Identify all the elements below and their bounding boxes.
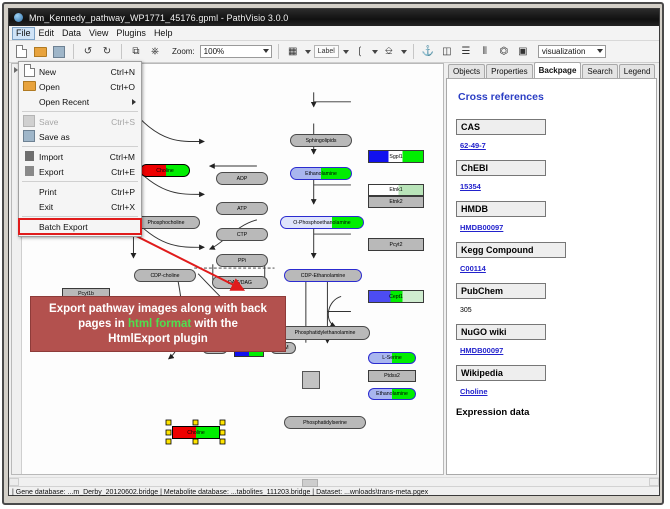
line-button[interactable]: ❲ — [352, 44, 368, 60]
status-area: | Gene database: ...m_Derby_20120602.bri… — [9, 477, 659, 495]
menu-item-accelerator: Ctrl+S — [111, 117, 141, 127]
node-label: DAG/DAG — [227, 280, 253, 286]
new-button[interactable] — [13, 44, 29, 60]
menu-item-accelerator: Ctrl+E — [111, 167, 141, 177]
toolbar-separator-1 — [73, 44, 74, 59]
copy-button[interactable]: ⧉ — [128, 44, 144, 60]
datanode-button[interactable]: ▦ — [285, 44, 301, 60]
node-phosphatidylserine[interactable]: Phosphatidylserine — [284, 416, 366, 429]
side-panel-tabs: Objects Properties Backpage Search Legen… — [446, 63, 657, 78]
xref-db-label: CAS — [456, 119, 546, 135]
xref-chebi: ChEBI 15354 — [456, 160, 647, 194]
node-label: Phosphatidylethanolamine — [294, 330, 357, 336]
menu-item-label: Save as — [39, 132, 135, 142]
menu-separator — [22, 216, 138, 217]
toolbar-separator-3 — [278, 44, 279, 59]
open-folder-icon — [19, 81, 39, 93]
node-sphingolipids[interactable]: Sphingolipids — [290, 134, 352, 147]
node-label: Ethanolamine — [304, 171, 338, 177]
zoom-combobox[interactable]: 100% — [200, 45, 272, 58]
xref-db-label: Kegg Compound — [456, 242, 566, 258]
menubar: File Edit Data View Plugins Help — [9, 26, 659, 41]
menu-item-open[interactable]: Open Ctrl+O — [19, 79, 141, 94]
menu-item-accelerator: Ctrl+M — [110, 152, 141, 162]
menu-item-accelerator: Ctrl+O — [110, 82, 141, 92]
menu-data[interactable]: Data — [58, 27, 85, 40]
group-button[interactable]: ◫ — [439, 44, 455, 60]
menu-item-label: Print — [39, 187, 111, 197]
node-etnk2[interactable]: Etnk2 — [368, 196, 424, 208]
save-as-disk-icon — [19, 130, 39, 144]
menu-item-label: New — [39, 67, 111, 77]
shape-button[interactable]: ⎒ — [381, 44, 397, 60]
menu-separator — [22, 111, 138, 112]
menu-item-print[interactable]: Print Ctrl+P — [19, 184, 141, 199]
menu-help[interactable]: Help — [150, 27, 177, 40]
open-button[interactable] — [32, 44, 48, 60]
node-cdp-ethanolamine[interactable]: CDP-Ethanolamine — [284, 269, 362, 282]
node-label: L-Serine — [381, 355, 403, 361]
scroll-right-arrow-icon[interactable] — [649, 478, 659, 486]
zoom-label: Zoom: — [172, 47, 195, 56]
node-label: Choline — [155, 168, 175, 174]
xref-db-label: PubChem — [456, 283, 546, 299]
chevron-down-icon — [263, 49, 269, 53]
menu-item-exit[interactable]: Exit Ctrl+X — [19, 199, 141, 214]
expression-data-heading: Expression data — [456, 407, 647, 418]
xref-link-hmdb[interactable]: HMDB00097 — [460, 223, 503, 232]
redo-button[interactable]: ↻ — [99, 44, 115, 60]
xref-pubchem: PubChem 305 — [456, 283, 647, 317]
visualization-value: visualization — [542, 47, 586, 56]
node-label: Sphingolipids — [305, 138, 338, 144]
node-pcyt2[interactable]: Pcyt2 — [368, 238, 424, 251]
node-label: Choline — [186, 430, 206, 436]
order-button[interactable]: ▣ — [515, 44, 531, 60]
xref-link-wikipedia[interactable]: Choline — [460, 387, 488, 396]
window-titlebar: Mm_Kennedy_pathway_WP1771_45176.gpml - P… — [9, 9, 659, 26]
tab-objects[interactable]: Objects — [448, 64, 485, 78]
menu-item-new[interactable]: New Ctrl+N — [19, 64, 141, 79]
node-label: Etnk2 — [388, 199, 403, 205]
side-panel: Objects Properties Backpage Search Legen… — [446, 63, 657, 475]
node-label: Phosphocholine — [147, 220, 186, 226]
import-icon — [19, 151, 39, 163]
menu-separator — [22, 146, 138, 147]
toolbar: ↺ ↻ ⧉ ⎈ Zoom: 100% ▦ Label ❲ ⎒ ⚓ ◫ ☰ ⦀ ⏣ — [9, 41, 659, 63]
zoom-value: 100% — [204, 47, 224, 56]
node-label: Cept1 — [388, 294, 404, 300]
node-ctp[interactable]: CTP — [216, 228, 268, 241]
menu-item-save: Save Ctrl+S — [19, 114, 141, 129]
node-label: Etnk1 — [388, 187, 403, 193]
menu-item-save-as[interactable]: Save as — [19, 129, 141, 144]
pathvisio-window: Mm_Kennedy_pathway_WP1771_45176.gpml - P… — [8, 8, 660, 496]
node-adp[interactable]: ADP — [216, 172, 268, 185]
toolbar-separator-2 — [121, 44, 122, 59]
xref-db-label: ChEBI — [456, 160, 546, 176]
file-menu-dropdown: New Ctrl+N Open Ctrl+O Open Recent Save … — [18, 61, 142, 237]
undo-button[interactable]: ↺ — [80, 44, 96, 60]
xref-wikipedia: Wikipedia Choline — [456, 365, 647, 399]
paste-button[interactable]: ⎈ — [147, 44, 163, 60]
xref-value-pubchem: 305 — [460, 307, 472, 314]
anchor-button[interactable]: ⚓ — [420, 44, 436, 60]
menu-item-open-recent[interactable]: Open Recent — [19, 94, 141, 109]
xref-nugo: NuGO wiki HMDB00097 — [456, 324, 647, 358]
node-o-phosphoethanolamine[interactable]: O-Phosphoethanolamine — [280, 216, 364, 229]
node-dag[interactable]: DAG/DAG — [212, 276, 268, 289]
xref-kegg: Kegg Compound C00114 — [456, 242, 647, 276]
menu-item-label: Batch Export — [39, 222, 141, 232]
scrollbar-thumb[interactable] — [302, 479, 318, 487]
window-title: Mm_Kennedy_pathway_WP1771_45176.gpml - P… — [29, 13, 288, 23]
toolbar-separator-4 — [413, 44, 414, 59]
export-icon — [19, 166, 39, 178]
tab-backpage[interactable]: Backpage — [534, 62, 582, 78]
menu-item-label: Open — [39, 82, 110, 92]
menu-item-import[interactable]: Import Ctrl+M — [19, 149, 141, 164]
menu-view[interactable]: View — [85, 27, 112, 40]
xref-cas: CAS 62-49-7 — [456, 119, 647, 153]
status-bar: | Gene database: ...m_Derby_20120602.bri… — [9, 486, 659, 497]
xref-db-label: NuGO wiki — [456, 324, 546, 340]
node-l-serine[interactable]: L-Serine — [368, 352, 416, 364]
menu-file[interactable]: File — [12, 27, 35, 40]
node-ppi[interactable]: PPi — [216, 254, 268, 267]
menu-separator — [22, 181, 138, 182]
submenu-arrow-icon — [132, 99, 136, 105]
annotation-callout: Export pathway images along with back pa… — [30, 296, 286, 352]
node-ethanolamine[interactable]: Ethanolamine — [290, 167, 352, 180]
callout-line-2a: pages in — [78, 318, 128, 330]
tab-search[interactable]: Search — [582, 64, 617, 78]
menu-item-accelerator: Ctrl+X — [111, 202, 141, 212]
node-label: CDP-choline — [149, 273, 180, 279]
node-ethanolamine-2[interactable]: Ethanolamine — [368, 388, 416, 400]
node-label: ATP — [236, 206, 248, 212]
menu-edit[interactable]: Edit — [35, 27, 59, 40]
xref-link-kegg[interactable]: C00114 — [460, 264, 486, 273]
chevron-down-icon[interactable] — [401, 50, 407, 54]
chevron-down-icon — [597, 49, 603, 53]
node-label: Sgpl1 — [388, 154, 403, 160]
xref-db-label: HMDB — [456, 201, 546, 217]
xref-hmdb: HMDB HMDB00097 — [456, 201, 647, 235]
xref-db-label: Wikipedia — [456, 365, 546, 381]
node-ptdss2[interactable]: Ptdss2 — [368, 370, 416, 382]
tab-legend[interactable]: Legend — [619, 64, 656, 78]
node-label: CDP-Ethanolamine — [300, 273, 346, 279]
backpage-content: Cross references CAS 62-49-7 ChEBI 15354… — [446, 78, 657, 475]
node-cdp-choline[interactable]: CDP-choline — [134, 269, 196, 282]
xref-link-chebi[interactable]: 15354 — [460, 182, 481, 191]
menu-item-label: Save — [39, 117, 111, 127]
node-etnk1[interactable]: Etnk1 — [368, 184, 424, 196]
save-button[interactable] — [51, 44, 67, 60]
save-disk-icon — [19, 115, 39, 129]
menu-item-accelerator: Ctrl+N — [111, 67, 141, 77]
node-label: Ethanolamine — [375, 391, 409, 397]
callout-line-1: Export pathway images along with back — [49, 303, 267, 315]
xref-link-cas[interactable]: 62-49-7 — [460, 141, 486, 150]
node-cept1[interactable]: Cept1 — [368, 290, 424, 303]
node-label: O-Phosphoethanolamine — [292, 220, 351, 226]
callout-line-2b: with the — [191, 318, 238, 330]
new-document-icon — [19, 64, 39, 79]
node-phosphatidylethanolamine[interactable]: Phosphatidylethanolamine — [280, 326, 370, 340]
screenshot-root: Mm_Kennedy_pathway_WP1771_45176.gpml - P… — [0, 0, 670, 509]
chevron-down-icon[interactable] — [343, 50, 349, 54]
xref-link-nugo[interactable]: HMDB00097 — [460, 346, 503, 355]
node-choline-top[interactable]: Choline — [140, 164, 190, 177]
node-label: PPi — [237, 258, 247, 264]
node-label: Phosphatidylserine — [302, 420, 348, 426]
horizontal-scrollbar[interactable] — [9, 477, 659, 486]
chevron-down-icon[interactable] — [305, 50, 311, 54]
tab-properties[interactable]: Properties — [486, 64, 532, 78]
menu-plugins[interactable]: Plugins — [112, 27, 150, 40]
distribute-button[interactable]: ⦀ — [477, 44, 493, 60]
node-label: Ptdss2 — [383, 373, 401, 379]
chevron-down-icon[interactable] — [372, 50, 378, 54]
align-button[interactable]: ☰ — [458, 44, 474, 60]
node-sgpl1[interactable]: Sgpl1 — [368, 150, 424, 163]
expression-color-box-2 — [302, 371, 320, 389]
node-phosphocholine[interactable]: Phosphocholine — [132, 216, 200, 229]
node-label: CTP — [236, 232, 248, 238]
menu-item-label: Exit — [39, 202, 111, 212]
node-label: ADP — [236, 176, 249, 182]
label-tool-button[interactable]: Label — [314, 45, 339, 58]
callout-line-3: HtmlExport plugin — [108, 333, 208, 345]
menu-item-export[interactable]: Export Ctrl+E — [19, 164, 141, 179]
callout-text: Export pathway images along with back pa… — [49, 302, 267, 347]
menu-item-label: Import — [39, 152, 110, 162]
stack-button[interactable]: ⏣ — [496, 44, 512, 60]
scroll-left-arrow-icon[interactable] — [9, 478, 19, 486]
menu-item-batch-export[interactable]: Batch Export — [19, 219, 141, 234]
callout-highlight: html format — [128, 318, 191, 330]
pathvisio-icon — [13, 12, 24, 23]
menu-item-label: Export — [39, 167, 111, 177]
menu-item-label: Open Recent — [39, 97, 141, 107]
cross-references-heading: Cross references — [458, 91, 647, 103]
node-atp[interactable]: ATP — [216, 202, 268, 215]
node-label: Pcyt2 — [389, 242, 404, 248]
visualization-combobox[interactable]: visualization — [538, 45, 606, 58]
menu-item-accelerator: Ctrl+P — [111, 187, 141, 197]
